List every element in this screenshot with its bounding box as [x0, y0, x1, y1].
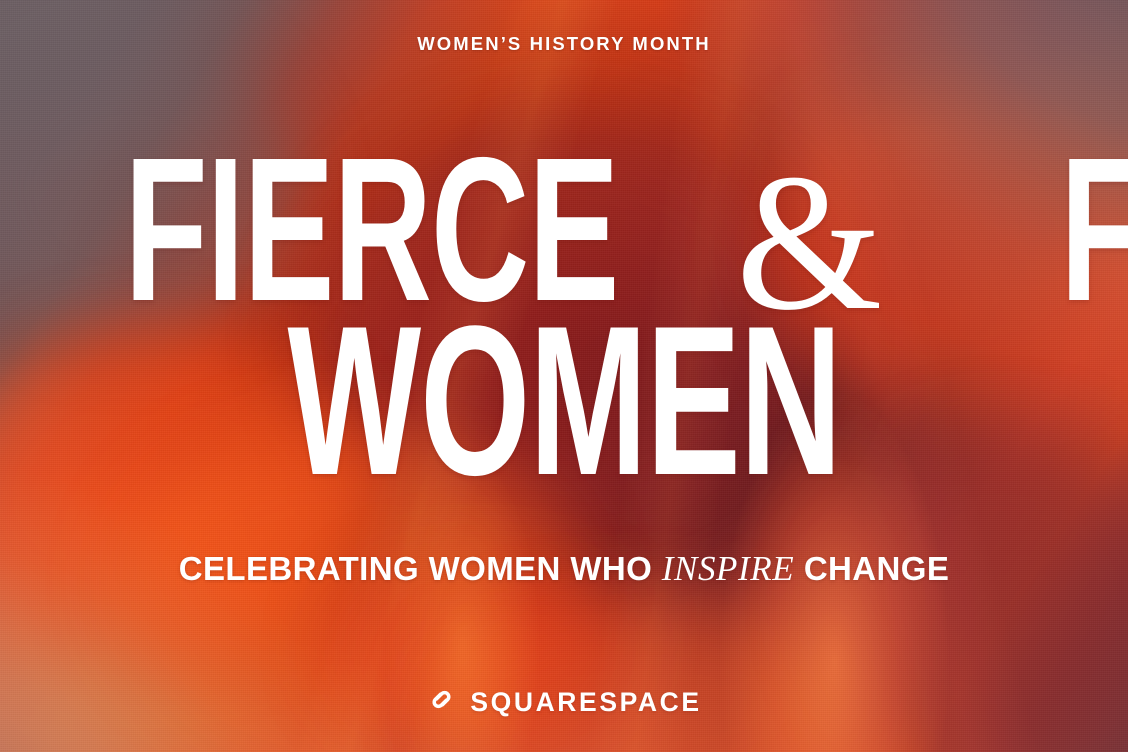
subtitle-emphasis: INSPIRE: [662, 549, 795, 588]
poster-content: WOMEN’S HISTORY MONTH FIERCE&FEARLESS WO…: [0, 0, 1128, 752]
squarespace-logo-icon: [426, 684, 457, 720]
brand-name: SQUARESPACE: [470, 687, 701, 718]
brand-lockup: SQUARESPACE: [0, 684, 1128, 720]
subtitle-text-before: CELEBRATING WOMEN WHO: [179, 550, 662, 587]
page-title: FIERCE&FEARLESS WOMEN: [0, 150, 1128, 484]
poster-canvas: WOMEN’S HISTORY MONTH FIERCE&FEARLESS WO…: [0, 0, 1128, 752]
headline-word-fearless: FEARLESS: [1060, 150, 1128, 310]
eyebrow-label: WOMEN’S HISTORY MONTH: [0, 33, 1128, 55]
subtitle-text-after: CHANGE: [794, 550, 949, 587]
subtitle: CELEBRATING WOMEN WHO INSPIRE CHANGE: [0, 549, 1128, 589]
headline-word-women: WOMEN: [287, 318, 841, 484]
